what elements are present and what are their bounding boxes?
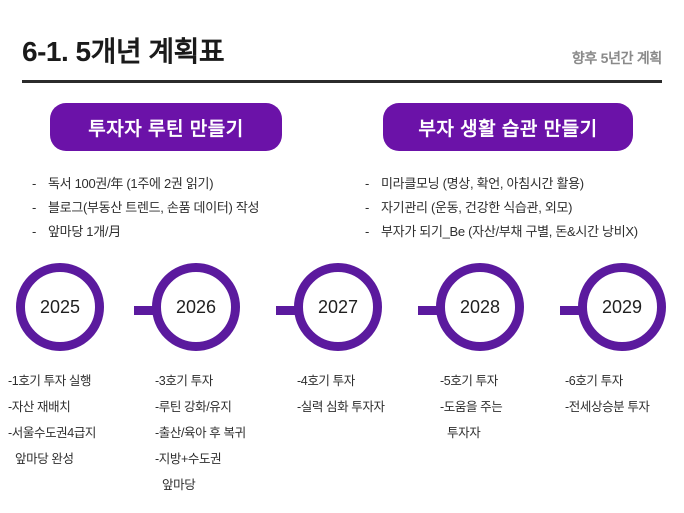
dash-icon: - <box>32 220 48 244</box>
timeline-node-2027: 2027 <box>294 263 382 351</box>
dash-icon: - <box>365 172 381 196</box>
timeline-details-2026: -3호기 투자 -루틴 강화/유지 -출산/육아 후 복귀 -지방+수도권 앞마… <box>155 368 295 498</box>
bullet-list-rich-habits: - 미라클모닝 (명상, 확언, 아침시간 활용) - 자기관리 (운동, 건강… <box>365 172 684 244</box>
timeline-details-2029: -6호기 투자 -전세상승분 투자 <box>565 368 684 420</box>
list-item: - 블로그(부동산 트렌드, 손품 데이터) 작성 <box>32 196 362 220</box>
timeline-node-2029: 2029 <box>578 263 666 351</box>
dash-icon: - <box>365 196 381 220</box>
timeline-node-2028: 2028 <box>436 263 524 351</box>
timeline-node-2025: 2025 <box>16 263 104 351</box>
header-divider <box>22 80 662 83</box>
bullet-list-investor-routine: - 독서 100권/年 (1주에 2권 읽기) - 블로그(부동산 트렌드, 손… <box>32 172 362 244</box>
timeline-details-2025: -1호기 투자 실행 -자산 재배치 -서울수도권4급지 앞마당 완성 <box>8 368 148 472</box>
timeline-details-2027: -4호기 투자 -실력 심화 투자자 <box>297 368 437 420</box>
timeline-details-2028: -5호기 투자 -도움을 주는 투자자 <box>440 368 570 446</box>
page-subtitle: 향후 5년간 계획 <box>572 48 662 68</box>
list-item: - 앞마당 1개/月 <box>32 220 362 244</box>
list-item: - 독서 100권/年 (1주에 2권 읽기) <box>32 172 362 196</box>
list-item: - 미라클모닝 (명상, 확언, 아침시간 활용) <box>365 172 684 196</box>
dash-icon: - <box>32 172 48 196</box>
list-item: - 부자가 되기_Be (자산/부채 구별, 돈&시간 낭비X) <box>365 220 684 244</box>
page-title: 6-1. 5개년 계획표 <box>22 34 224 70</box>
timeline-node-2026: 2026 <box>152 263 240 351</box>
slide-header: 6-1. 5개년 계획표 향후 5년간 계획 <box>22 34 662 82</box>
list-item: - 자기관리 (운동, 건강한 식습관, 외모) <box>365 196 684 220</box>
dash-icon: - <box>365 220 381 244</box>
timeline: 2025 2026 2027 2028 2029 <box>0 263 684 353</box>
section-heading-investor-routine: 투자자 루틴 만들기 <box>50 103 282 151</box>
section-heading-rich-habits: 부자 생활 습관 만들기 <box>383 103 633 151</box>
dash-icon: - <box>32 196 48 220</box>
